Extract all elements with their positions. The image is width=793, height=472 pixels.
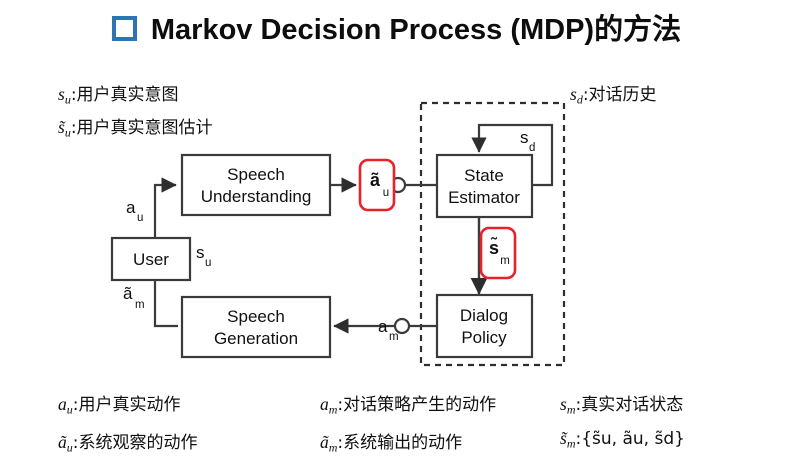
edge-label-a-m-tilde: ã m bbox=[123, 284, 145, 311]
block-state-estimator: State Estimator bbox=[437, 155, 532, 217]
edge-label-a-u: a u bbox=[126, 198, 143, 224]
svg-text:u: u bbox=[137, 212, 143, 224]
block-dialog-policy: Dialog Policy bbox=[437, 295, 532, 357]
mdp-block-diagram: Speech Understanding User Speech Generat… bbox=[0, 0, 793, 472]
svg-text:m: m bbox=[135, 299, 145, 311]
svg-text:m: m bbox=[389, 331, 399, 343]
block-speech-generation-line1: Speech bbox=[227, 307, 285, 326]
highlight-au-tilde-subscript: u bbox=[383, 187, 389, 199]
svg-text:u: u bbox=[205, 257, 211, 269]
block-user-line1: User bbox=[133, 250, 169, 269]
edge-label-s-u: s u bbox=[196, 243, 211, 269]
edge-speech-generation-to-user bbox=[155, 280, 178, 326]
svg-text:ã: ã bbox=[123, 284, 133, 303]
edge-label-s-d: s d bbox=[520, 128, 535, 154]
svg-text:s: s bbox=[520, 128, 529, 147]
block-user: User bbox=[112, 238, 190, 280]
block-speech-generation: Speech Generation bbox=[182, 297, 330, 357]
svg-text:a: a bbox=[378, 317, 388, 336]
block-dialog-policy-line1: Dialog bbox=[460, 306, 508, 325]
svg-text:a: a bbox=[126, 198, 136, 217]
block-dialog-policy-line2: Policy bbox=[461, 328, 507, 347]
highlight-sm-tilde: s̃ m bbox=[481, 228, 515, 278]
highlight-sm-tilde-symbol: s̃ bbox=[489, 236, 499, 258]
block-state-estimator-line2: Estimator bbox=[448, 188, 520, 207]
block-speech-generation-line2: Generation bbox=[214, 329, 298, 348]
edge-user-to-speech-understanding bbox=[155, 185, 176, 238]
highlight-au-tilde: ã u bbox=[360, 160, 394, 210]
highlight-au-tilde-symbol: ã bbox=[370, 170, 381, 190]
highlight-sm-tilde-subscript: m bbox=[500, 255, 510, 267]
block-speech-understanding-line2: Understanding bbox=[201, 187, 312, 206]
svg-text:d: d bbox=[529, 142, 535, 154]
svg-text:s: s bbox=[196, 243, 205, 262]
block-speech-understanding-line1: Speech bbox=[227, 165, 285, 184]
block-state-estimator-line1: State bbox=[464, 166, 504, 185]
block-speech-understanding: Speech Understanding bbox=[182, 155, 330, 215]
